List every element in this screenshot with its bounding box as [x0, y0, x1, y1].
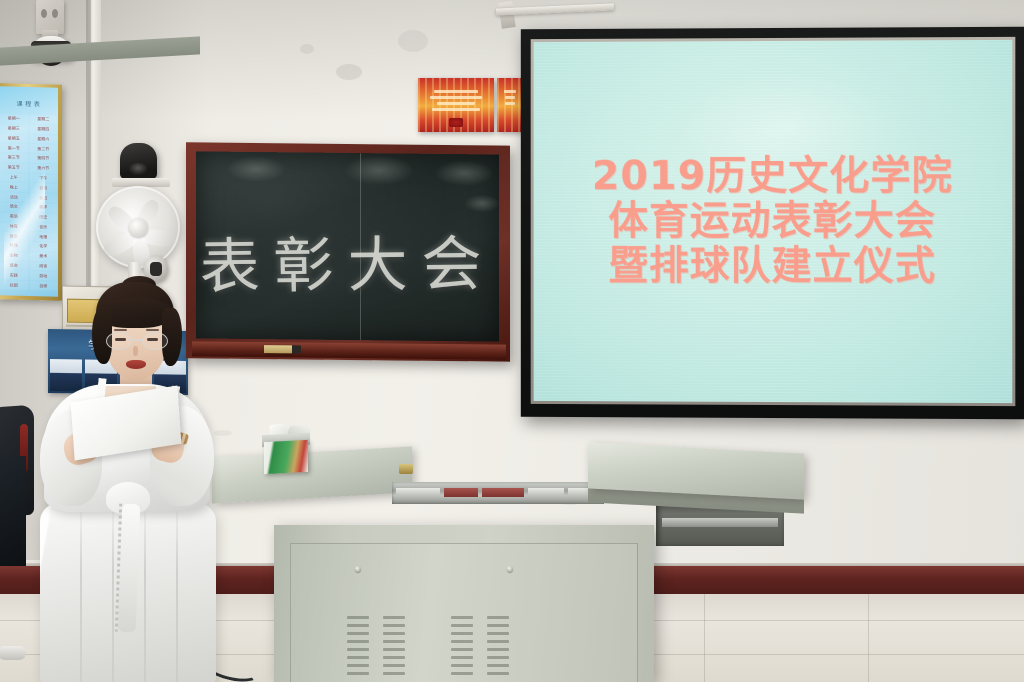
- tile-line: [704, 594, 705, 682]
- wall-scuff: [300, 44, 314, 54]
- poster-cell: 下午: [30, 174, 58, 183]
- award-certificate: [497, 78, 523, 132]
- multimedia-podium[interactable]: [274, 525, 654, 682]
- eyebrow: [114, 329, 127, 331]
- poster-cell: 物理: [0, 241, 28, 250]
- cavity-slide-rail: [662, 518, 778, 527]
- presenter: [34, 282, 216, 682]
- poster-cell: 星期六: [30, 135, 58, 144]
- door-screw: [355, 566, 361, 572]
- fan-hub: [129, 218, 148, 237]
- rail-segment: [528, 488, 564, 497]
- power-plug: [0, 646, 26, 660]
- poster-cell: 星期三: [0, 124, 28, 133]
- shelf-latch[interactable]: [399, 464, 413, 474]
- chalk-smudge: [434, 160, 494, 187]
- glasses-lens: [142, 332, 168, 350]
- power-outlet: [36, 0, 64, 34]
- screen-bezel: 2019历史文化学院 体育运动表彰大会 暨排球队建立仪式: [531, 37, 1016, 406]
- poster-cell: 政治: [0, 232, 28, 241]
- poster-cell: 第一节: [0, 144, 28, 153]
- poster-cell: 第三节: [0, 153, 28, 162]
- poster-cell: 实践: [0, 271, 28, 280]
- glasses-bridge: [130, 339, 142, 341]
- poster-cell: 星期一: [0, 114, 28, 123]
- screen-surface: 2019历史文化学院 体育运动表彰大会 暨排球队建立仪式: [534, 40, 1013, 403]
- timetable-poster: 课 程 表 星期一星期二星期三星期四星期五星期六第一节第二节第三节第四节第五节第…: [0, 83, 62, 301]
- poster-cell: 阅读: [30, 262, 58, 271]
- chalk-smudge: [344, 155, 414, 186]
- skirt-fold: [176, 494, 178, 682]
- poster-cell: 晚上: [0, 183, 28, 192]
- vent-group: [347, 616, 369, 675]
- poster-cell: 历史: [30, 213, 58, 222]
- door-screw: [507, 566, 513, 572]
- poster-cell: 音乐: [30, 223, 58, 232]
- blackboard-surface: 表彰大会: [196, 151, 499, 341]
- poster-cell: 第六节: [30, 164, 58, 173]
- drawer-slide-rail: [392, 482, 604, 504]
- skirt-fold: [80, 494, 82, 682]
- poster-cell: 社团: [0, 281, 28, 290]
- poster-cell: 班会: [0, 261, 28, 270]
- rail-segment: [396, 488, 440, 497]
- wall-scuff: [214, 430, 232, 436]
- chalk-ledge: [192, 341, 506, 359]
- certificate-text-lines: [424, 90, 488, 111]
- vent-group: [487, 616, 509, 675]
- wall-fan-icon: [96, 186, 180, 268]
- wall-scuff: [398, 30, 428, 52]
- skirt-fold: [144, 494, 146, 682]
- skirt-fold: [112, 494, 114, 682]
- eyebrow: [146, 329, 159, 331]
- poster-cell: 星期二: [30, 115, 58, 124]
- poster-cell: 上午: [0, 173, 28, 182]
- rail-label: [482, 488, 524, 497]
- podium-door[interactable]: [290, 543, 638, 682]
- vent-group: [451, 616, 473, 675]
- poster-cell: 化学: [30, 242, 58, 251]
- nose: [133, 346, 138, 356]
- poster-cell: 英语: [0, 212, 28, 221]
- poster-cell: 值日: [30, 193, 58, 202]
- award-certificate: [418, 78, 494, 132]
- blackboard: 表彰大会: [186, 142, 510, 361]
- rail-label: [444, 488, 478, 497]
- glasses-lens: [106, 332, 132, 350]
- classroom-scene: 课 程 表 星期一星期二星期三星期四星期五星期六第一节第二节第三节第四节第五节第…: [0, 0, 1024, 682]
- poster-cell: 语文: [0, 202, 28, 211]
- chalk-smudge: [226, 156, 286, 183]
- poster-inner: 课 程 表 星期一星期二星期三星期四星期五星期六第一节第二节第三节第四节第五节第…: [0, 86, 58, 296]
- outlet-hole: [52, 9, 58, 18]
- wall-scuff: [336, 64, 362, 80]
- certificate-seal: [449, 118, 463, 127]
- poster-cell: 自习: [30, 183, 58, 192]
- slide-line-1: 2019历史文化学院: [592, 154, 953, 199]
- poster-cell: 星期五: [0, 134, 28, 143]
- poster-cell: 劳动: [30, 271, 58, 280]
- certificate-text-lines: [503, 90, 517, 105]
- poster-grid: 星期一星期二星期三星期四星期五星期六第一节第二节第三节第四节第五节第六节上午下午…: [0, 114, 57, 290]
- poster-cell: 数学: [30, 203, 58, 212]
- poster-cell: 生物: [0, 251, 28, 260]
- poster-cell: 星期四: [30, 125, 58, 134]
- blackboard-chalk-text: 表彰大会: [196, 215, 499, 305]
- poster-cell: 活动: [0, 192, 28, 201]
- chalk-smudge: [464, 194, 499, 212]
- mouth: [126, 360, 146, 369]
- poster-cell: 第二节: [30, 144, 58, 153]
- poster-cell: 美术: [30, 252, 58, 261]
- poster-cell: 第五节: [0, 163, 28, 172]
- chalk-eraser-icon[interactable]: [264, 345, 292, 353]
- vent-group: [383, 616, 405, 675]
- poster-cell: 第四节: [30, 154, 58, 163]
- outlet-hole: [41, 9, 47, 18]
- wall-speaker-icon: [120, 143, 157, 179]
- slide-line-3: 暨排球队建立仪式: [608, 244, 936, 289]
- chair-seat: [0, 456, 26, 566]
- poster-cell: 地理: [30, 232, 58, 241]
- tissue-box[interactable]: [264, 440, 308, 474]
- poster-title: 课 程 表: [1, 92, 56, 113]
- projection-screen: 2019历史文化学院 体育运动表彰大会 暨排球队建立仪式: [521, 27, 1024, 420]
- poster-cell: 体育: [0, 222, 28, 231]
- tile-line: [868, 594, 869, 682]
- slide-line-2: 体育运动表彰大会: [608, 199, 936, 244]
